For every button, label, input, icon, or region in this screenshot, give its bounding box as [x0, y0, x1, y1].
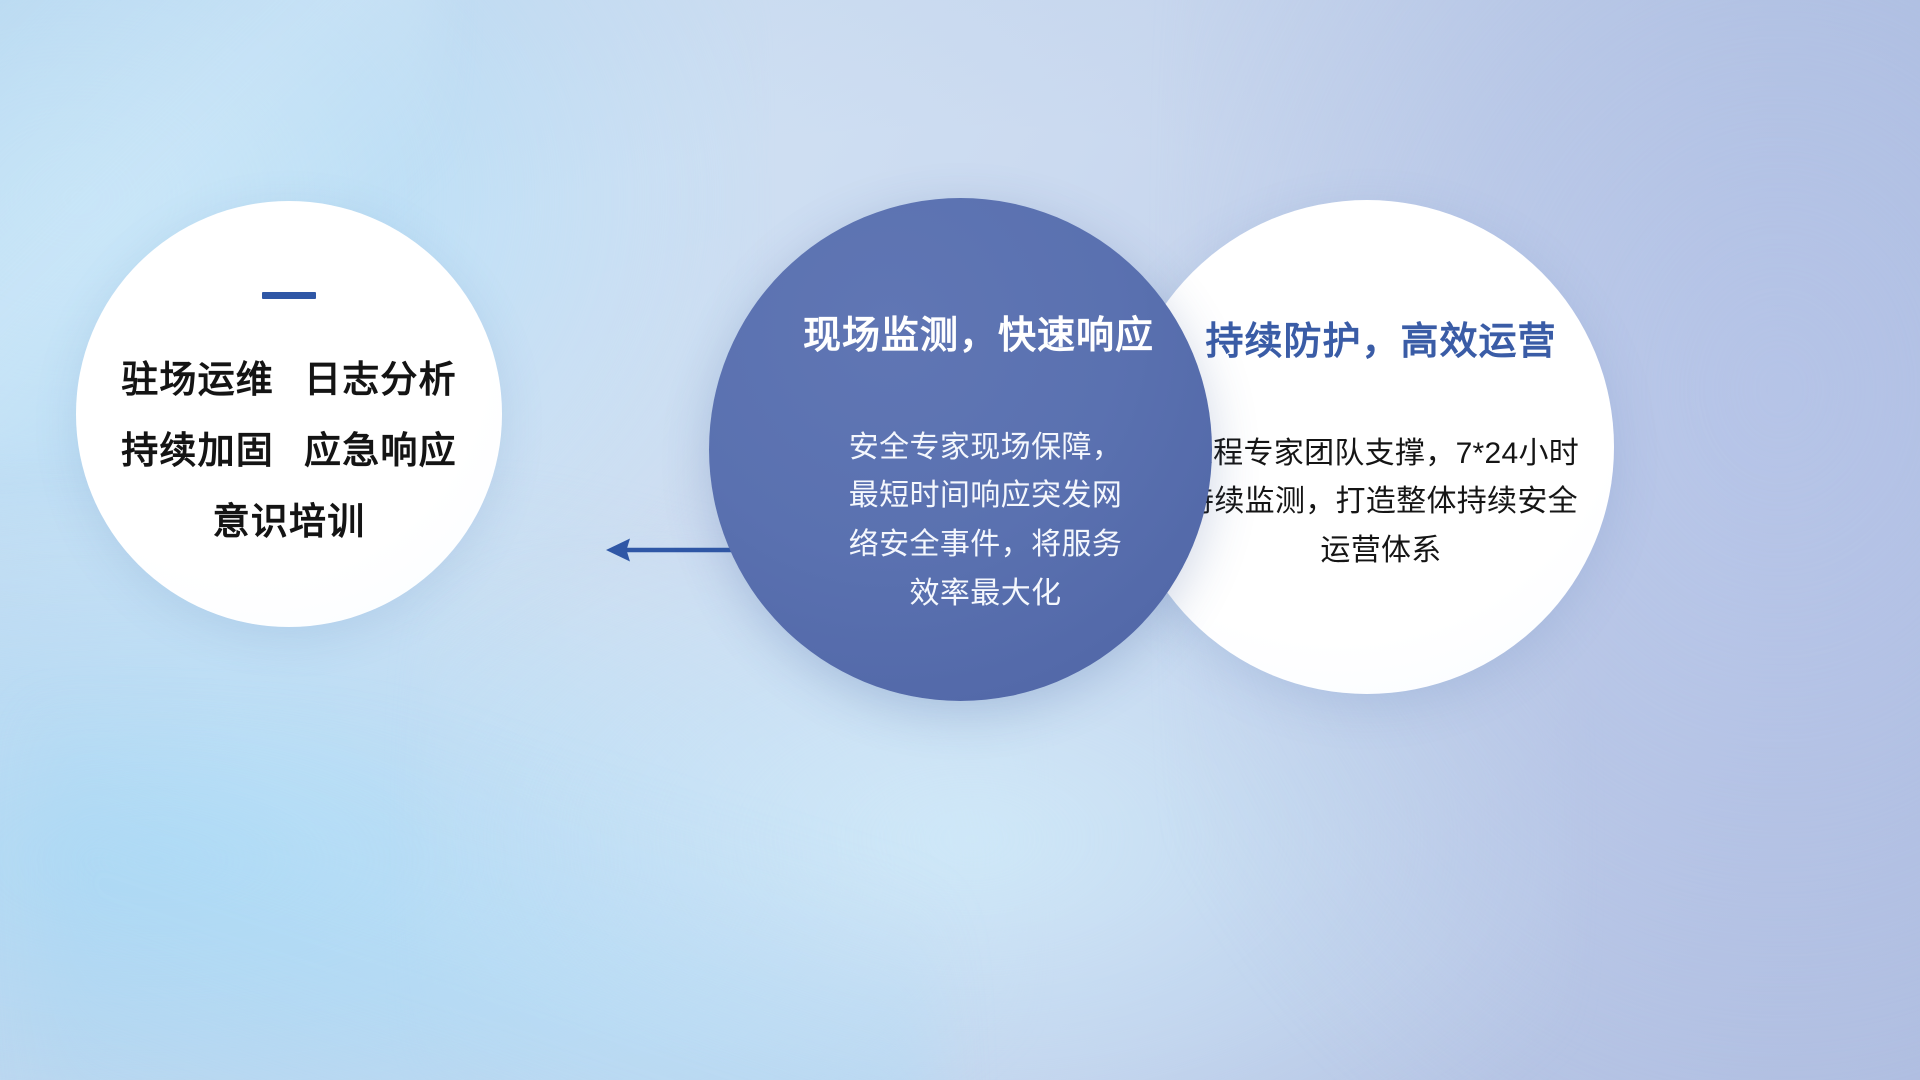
left-capability-circle[interactable]: 驻场运维 日志分析 持续加固 应急响应 意识培训: [76, 201, 502, 627]
middle-circle-content: 现场监测，快速响应 安全专家现场保障，最短时间响应突发网络安全事件，将服务效率最…: [709, 198, 1212, 701]
right-circle-title: 持续防护，高效运营: [1205, 322, 1556, 364]
spacer: [274, 432, 304, 469]
middle-service-circle[interactable]: 现场监测，快速响应 安全专家现场保障，最短时间响应突发网络安全事件，将服务效率最…: [709, 198, 1212, 701]
slide-canvas: 驻场运维 日志分析 持续加固 应急响应 意识培训 持续防护，高效运营 远程专家团…: [0, 0, 1920, 1080]
spacer: [274, 361, 304, 398]
middle-circle-title: 现场监测，快速响应: [803, 316, 1154, 358]
capability-row: 持续加固 应急响应: [121, 432, 457, 469]
capability-row: 驻场运维 日志分析: [121, 361, 457, 398]
horizontal-dash-icon: [262, 292, 316, 299]
capability-list: 驻场运维 日志分析 持续加固 应急响应 意识培训: [121, 361, 457, 540]
capability-item-emergency-response: 应急响应: [304, 432, 457, 469]
right-circle-body: 远程专家团队支撑，7*24小时持续监测，打造整体持续安全运营体系: [1171, 430, 1591, 576]
capability-item-onsite-ops: 驻场运维: [121, 361, 274, 398]
capability-item-continuous-hardening: 持续加固: [121, 432, 274, 469]
middle-circle-body: 安全专家现场保障，最短时间响应突发网络安全事件，将服务效率最大化: [836, 424, 1136, 618]
capability-row: 意识培训: [213, 503, 366, 540]
capability-item-awareness-training: 意识培训: [213, 503, 366, 540]
capability-item-log-analysis: 日志分析: [304, 361, 457, 398]
left-circle-content: 驻场运维 日志分析 持续加固 应急响应 意识培训: [76, 201, 502, 627]
